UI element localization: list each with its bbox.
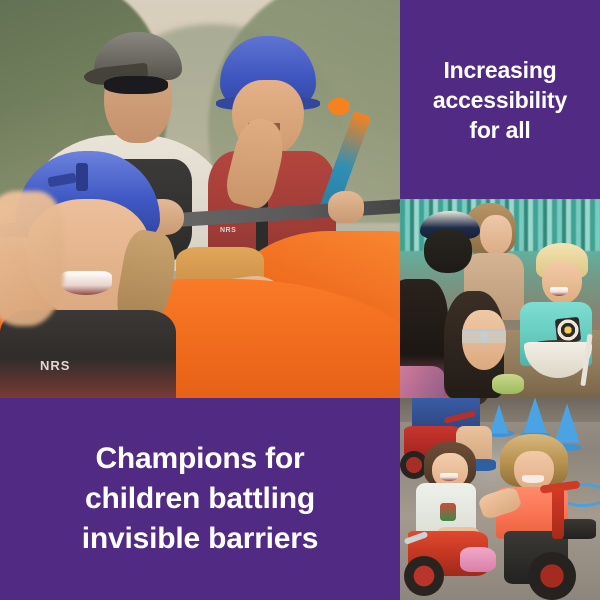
adult-right-hand — [328, 191, 364, 223]
panel-champions-for-children: Champions for children battling invisibl… — [0, 398, 400, 600]
girl-smile — [440, 473, 458, 481]
photo-family-at-table — [400, 199, 600, 398]
trike-rear-wheel — [528, 552, 576, 600]
panel-increasing-accessibility: Increasing accessibility for all — [400, 0, 600, 199]
rafting-illustration: NRS NRS — [0, 0, 400, 398]
image-collage: NRS NRS Increasing accessibility for all — [0, 0, 600, 600]
trike-illustration — [400, 398, 600, 600]
accessibility-headline: Increasing accessibility for all — [425, 55, 575, 145]
foreground-person-shirt — [400, 366, 444, 398]
photo-children-on-trikes — [400, 398, 600, 600]
family-illustration — [400, 199, 600, 398]
girl-helmet-vent — [76, 163, 88, 191]
trike-front-wheel — [404, 556, 444, 596]
boy-vest-brand: NRS — [220, 227, 256, 243]
photo-rafting: NRS NRS — [0, 0, 400, 398]
foreground-hand — [0, 191, 64, 326]
traffic-cone-icon — [554, 404, 579, 443]
trike-handlebar-post — [552, 487, 564, 540]
traffic-cone-icon — [523, 398, 546, 433]
girl-vest-brand: NRS — [40, 358, 104, 373]
traffic-cone-icon — [490, 405, 509, 434]
sunglasses-icon — [104, 76, 168, 94]
woman-face — [480, 215, 512, 255]
glasses-icon — [462, 330, 506, 343]
girl-shirt-print — [440, 503, 456, 521]
plate-of-greens — [492, 374, 524, 394]
girl-smile — [60, 271, 112, 295]
person-in-cap-head — [424, 229, 472, 273]
trike-seat — [560, 519, 596, 539]
girl-pink-sneaker — [460, 547, 496, 571]
champions-headline: Champions for children battling invisibl… — [68, 439, 333, 559]
boy-grin — [522, 475, 544, 483]
